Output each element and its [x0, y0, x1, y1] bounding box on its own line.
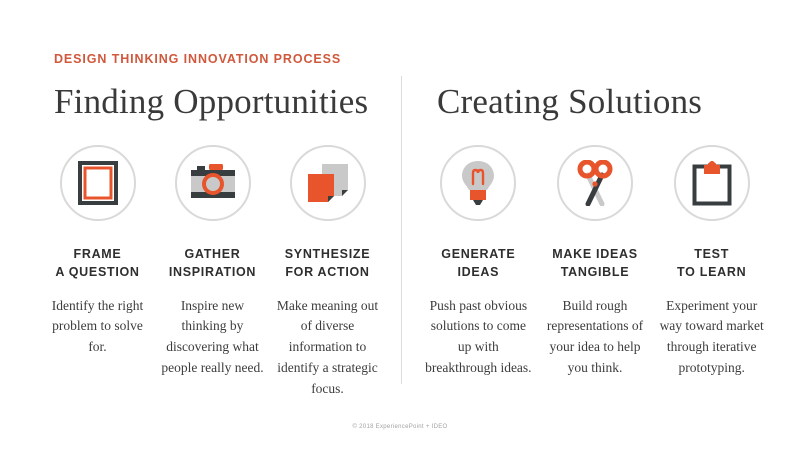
slide-canvas: DESIGN THINKING INNOVATION PROCESS Findi… [0, 0, 800, 450]
step-caption-line1: MAKE IDEAS [552, 247, 637, 261]
step-test-to-learn: TEST TO LEARN Experiment your way toward… [653, 145, 770, 379]
step-description: Inspire new thinking by discovering what… [159, 296, 267, 380]
step-gather-inspiration: GATHER INSPIRATION Inspire new thinking … [155, 145, 270, 400]
lightbulb-icon [461, 160, 495, 206]
section-divider [401, 76, 402, 384]
section-heading-creating-solutions: Creating Solutions [437, 82, 702, 122]
step-caption-line2: IDEAS [441, 264, 515, 282]
step-caption: GATHER INSPIRATION [169, 246, 256, 282]
step-icon-circle [60, 145, 136, 221]
step-icon-circle [175, 145, 251, 221]
step-description: Build rough representations of your idea… [539, 296, 651, 380]
section-heading-finding-opportunities: Finding Opportunities [54, 82, 368, 122]
eyebrow-title: DESIGN THINKING INNOVATION PROCESS [54, 52, 341, 66]
step-caption: SYNTHESIZE FOR ACTION [285, 246, 371, 282]
step-caption-line1: GENERATE [441, 247, 515, 261]
step-description: Make meaning out of diverse information … [274, 296, 382, 401]
picture-frame-icon [78, 161, 118, 205]
step-frame-a-question: FRAME A QUESTION Identify the right prob… [40, 145, 155, 400]
scissors-icon [575, 160, 615, 206]
step-icon-circle [290, 145, 366, 221]
step-icon-circle [440, 145, 516, 221]
step-generate-ideas: GENERATE IDEAS Push past obvious solutio… [420, 145, 537, 379]
step-description: Push past obvious solutions to come up w… [422, 296, 534, 380]
step-caption: MAKE IDEAS TANGIBLE [552, 246, 637, 282]
steps-group-finding-opportunities: FRAME A QUESTION Identify the right prob… [40, 145, 385, 400]
camera-icon [189, 163, 237, 203]
step-caption-line2: TANGIBLE [552, 264, 637, 282]
step-caption: GENERATE IDEAS [441, 246, 515, 282]
step-caption-line2: INSPIRATION [169, 264, 256, 282]
step-description: Identify the right problem to solve for. [44, 296, 152, 359]
step-caption-line2: A QUESTION [55, 264, 139, 282]
step-caption-line1: FRAME [74, 247, 122, 261]
step-caption-line2: FOR ACTION [285, 264, 371, 282]
step-caption-line1: SYNTHESIZE [285, 247, 371, 261]
step-caption: TEST TO LEARN [677, 246, 746, 282]
step-icon-circle [674, 145, 750, 221]
step-caption-line1: TEST [694, 247, 729, 261]
step-caption-line1: GATHER [184, 247, 240, 261]
sticky-notes-icon [306, 162, 350, 204]
copyright-footer: © 2018 ExperiencePoint + IDEO [0, 424, 800, 430]
clipboard-icon [692, 160, 732, 206]
step-caption: FRAME A QUESTION [55, 246, 139, 282]
step-icon-circle [557, 145, 633, 221]
step-synthesize-for-action: SYNTHESIZE FOR ACTION Make meaning out o… [270, 145, 385, 400]
step-make-ideas-tangible: MAKE IDEAS TANGIBLE Build rough represen… [537, 145, 654, 379]
steps-group-creating-solutions: GENERATE IDEAS Push past obvious solutio… [420, 145, 770, 379]
step-description: Experiment your way toward market throug… [656, 296, 768, 380]
step-caption-line2: TO LEARN [677, 264, 746, 282]
